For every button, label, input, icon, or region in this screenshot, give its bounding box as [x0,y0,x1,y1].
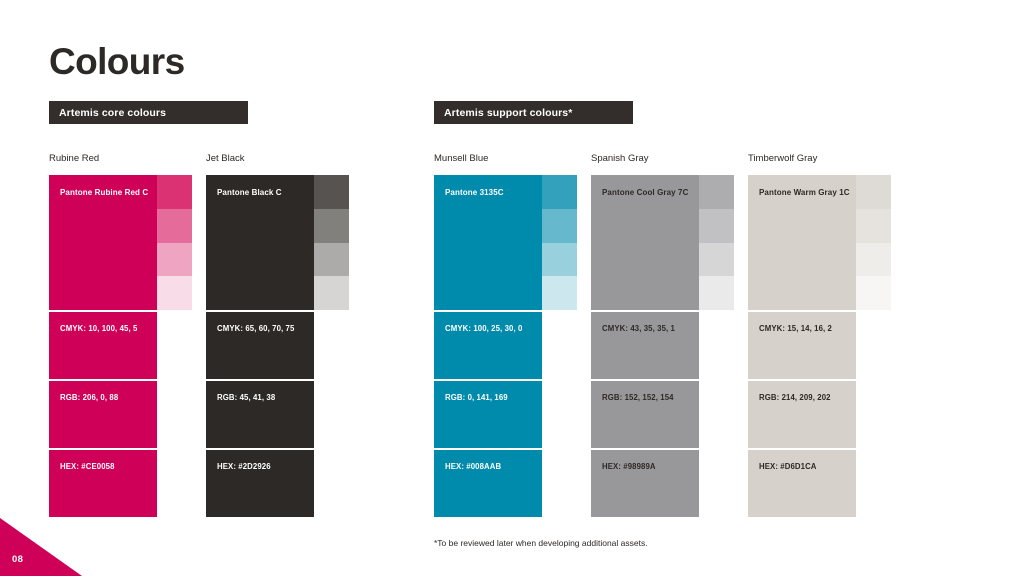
hex-value: HEX: #008AAB [445,462,542,471]
hex-value: HEX: #CE0058 [60,462,157,471]
tint-swatch [856,276,891,310]
tint-swatch [542,276,577,310]
primary-swatch: Pantone Warm Gray 1C [748,175,856,310]
tint-swatch [314,243,349,277]
hex-value-cell: HEX: #008AAB [434,450,542,517]
hex-value-cell: HEX: #CE0058 [49,450,157,517]
swatch-top-row: Pantone Black C [206,175,349,310]
rgb-value-cell: RGB: 152, 152, 154 [591,381,699,448]
cmyk-value: CMYK: 65, 60, 70, 75 [217,324,314,333]
colour-name: Munsell Blue [434,153,577,165]
hex-value-cell: HEX: #D6D1CA [748,450,856,517]
cmyk-value-cell: CMYK: 15, 14, 16, 2 [748,312,856,379]
tint-strip [157,175,192,310]
tint-strip [699,175,734,310]
tint-swatch [157,209,192,243]
cmyk-value: CMYK: 100, 25, 30, 0 [445,324,542,333]
hex-value: HEX: #2D2926 [217,462,314,471]
hex-value: HEX: #D6D1CA [759,462,856,471]
cmyk-value-cell: CMYK: 10, 100, 45, 5 [49,312,157,379]
tint-strip [542,175,577,310]
tint-swatch [856,243,891,277]
primary-swatch: Pantone 3135C [434,175,542,310]
colour-column: Timberwolf GrayPantone Warm Gray 1CCMYK:… [748,153,891,517]
tint-swatch [314,276,349,310]
tint-swatch [157,175,192,209]
rgb-value-cell: RGB: 45, 41, 38 [206,381,314,448]
colour-value-stack: CMYK: 65, 60, 70, 75RGB: 45, 41, 38HEX: … [206,312,314,517]
pantone-label: Pantone Cool Gray 7C [602,188,699,197]
colour-value-stack: CMYK: 43, 35, 35, 1RGB: 152, 152, 154HEX… [591,312,699,517]
colour-value-stack: CMYK: 100, 25, 30, 0RGB: 0, 141, 169HEX:… [434,312,542,517]
colour-swatch-group: Pantone Cool Gray 7CCMYK: 43, 35, 35, 1R… [591,175,734,517]
pantone-label: Pantone Black C [217,188,314,197]
pantone-label: Pantone Warm Gray 1C [759,188,856,197]
colour-value-stack: CMYK: 10, 100, 45, 5RGB: 206, 0, 88HEX: … [49,312,157,517]
primary-swatch: Pantone Cool Gray 7C [591,175,699,310]
tint-swatch [699,276,734,310]
cmyk-value: CMYK: 10, 100, 45, 5 [60,324,157,333]
footnote: *To be reviewed later when developing ad… [434,538,648,548]
rgb-value-cell: RGB: 0, 141, 169 [434,381,542,448]
tint-swatch [699,243,734,277]
pantone-label: Pantone 3135C [445,188,542,197]
section-header-core-label: Artemis core colours [59,107,166,119]
tint-swatch [699,209,734,243]
section-header-support-label: Artemis support colours* [444,107,572,119]
tint-swatch [856,209,891,243]
hex-value: HEX: #98989A [602,462,699,471]
rgb-value-cell: RGB: 214, 209, 202 [748,381,856,448]
rgb-value: RGB: 0, 141, 169 [445,393,542,402]
section-header-core-colours: Artemis core colours [49,101,248,124]
primary-swatch: Pantone Black C [206,175,314,310]
hex-value-cell: HEX: #98989A [591,450,699,517]
tint-swatch [314,209,349,243]
colour-column: Jet BlackPantone Black CCMYK: 65, 60, 70… [206,153,349,517]
tint-swatch [699,175,734,209]
tint-swatch [856,175,891,209]
tint-strip [856,175,891,310]
colour-swatch-group: Pantone Rubine Red CCMYK: 10, 100, 45, 5… [49,175,192,517]
colour-name: Spanish Gray [591,153,734,165]
page-title: Colours [49,41,185,83]
colour-swatch-group: Pantone Black CCMYK: 65, 60, 70, 75RGB: … [206,175,349,517]
page-corner-marker: 08 [0,518,82,576]
tint-swatch [157,276,192,310]
rgb-value: RGB: 45, 41, 38 [217,393,314,402]
swatch-top-row: Pantone Rubine Red C [49,175,192,310]
tint-swatch [542,243,577,277]
colour-name: Jet Black [206,153,349,165]
colour-value-stack: CMYK: 15, 14, 16, 2RGB: 214, 209, 202HEX… [748,312,856,517]
cmyk-value-cell: CMYK: 43, 35, 35, 1 [591,312,699,379]
rgb-value: RGB: 152, 152, 154 [602,393,699,402]
primary-swatch: Pantone Rubine Red C [49,175,157,310]
swatch-top-row: Pantone Cool Gray 7C [591,175,734,310]
swatch-top-row: Pantone Warm Gray 1C [748,175,891,310]
swatch-top-row: Pantone 3135C [434,175,577,310]
cmyk-value-cell: CMYK: 65, 60, 70, 75 [206,312,314,379]
slide-page: Colours Artemis core colours Artemis sup… [0,0,1024,576]
rgb-value-cell: RGB: 206, 0, 88 [49,381,157,448]
page-number: 08 [12,554,23,565]
rgb-value: RGB: 206, 0, 88 [60,393,157,402]
tint-swatch [314,175,349,209]
colour-column: Munsell BluePantone 3135CCMYK: 100, 25, … [434,153,577,517]
colour-swatch-group: Pantone Warm Gray 1CCMYK: 15, 14, 16, 2R… [748,175,891,517]
cmyk-value-cell: CMYK: 100, 25, 30, 0 [434,312,542,379]
tint-swatch [157,243,192,277]
tint-swatch [542,175,577,209]
cmyk-value: CMYK: 15, 14, 16, 2 [759,324,856,333]
colour-swatch-group: Pantone 3135CCMYK: 100, 25, 30, 0RGB: 0,… [434,175,577,517]
colour-name: Rubine Red [49,153,192,165]
tint-swatch [542,209,577,243]
colour-name: Timberwolf Gray [748,153,891,165]
cmyk-value: CMYK: 43, 35, 35, 1 [602,324,699,333]
hex-value-cell: HEX: #2D2926 [206,450,314,517]
tint-strip [314,175,349,310]
colour-column: Rubine RedPantone Rubine Red CCMYK: 10, … [49,153,192,517]
rgb-value: RGB: 214, 209, 202 [759,393,856,402]
section-header-support-colours: Artemis support colours* [434,101,633,124]
colour-column: Spanish GrayPantone Cool Gray 7CCMYK: 43… [591,153,734,517]
corner-triangle-shape [0,518,82,576]
pantone-label: Pantone Rubine Red C [60,188,157,197]
